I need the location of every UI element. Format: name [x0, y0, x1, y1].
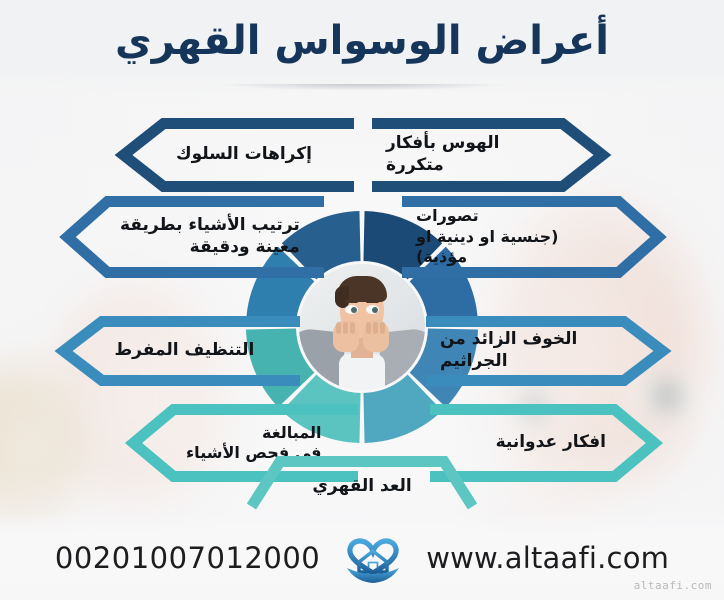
- arrow-ordering-objects[interactable]: ترتيب الأشياء بطريقة معينة ودقيقة: [62, 196, 324, 278]
- page-title: أعراض الوسواس القهري: [0, 16, 724, 66]
- arrow-intrusive-images[interactable]: تصورات (جنسية او دينية او مؤذية): [402, 196, 664, 278]
- arrow-label-intrusive-images: تصورات (جنسية او دينية او مؤذية): [416, 196, 610, 278]
- header: أعراض الوسواس القهري: [0, 0, 724, 96]
- arrow-label-fear-of-germs: الخوف الزائد من الجراثيم: [440, 316, 616, 386]
- arrow-label-ordering-objects: ترتيب الأشياء بطريقة معينة ودقيقة: [120, 196, 314, 278]
- footer: 00201007012000 www.altaafi.com: [0, 512, 724, 600]
- arrow-behavioral-compulsions[interactable]: إكراهات السلوك: [118, 118, 354, 192]
- arrow-excessive-cleaning[interactable]: التنظيف المفرط: [58, 316, 300, 386]
- arrow-label-behavioral-compulsions: إكراهات السلوك: [176, 118, 344, 192]
- heart-house-hands-logo: [342, 529, 404, 587]
- arrow-compulsive-counting[interactable]: العد القهري: [246, 456, 478, 512]
- title-underline-shadow: [160, 84, 564, 93]
- website-url[interactable]: www.altaafi.com: [426, 541, 669, 575]
- arrow-label-repetitive-thoughts: الهوس بأفكار متكررة: [386, 118, 554, 192]
- center-photo-anxious-man: [299, 264, 425, 390]
- arrow-fear-of-germs[interactable]: الخوف الزائد من الجراثيم: [426, 316, 668, 386]
- arrow-label-compulsive-counting: العد القهري: [246, 462, 478, 512]
- contact-phone[interactable]: 00201007012000: [55, 541, 320, 575]
- arrow-label-excessive-cleaning: التنظيف المفرط: [115, 316, 291, 386]
- watermark: altaafi.com: [634, 579, 712, 592]
- arrow-repetitive-thoughts[interactable]: الهوس بأفكار متكررة: [372, 118, 608, 192]
